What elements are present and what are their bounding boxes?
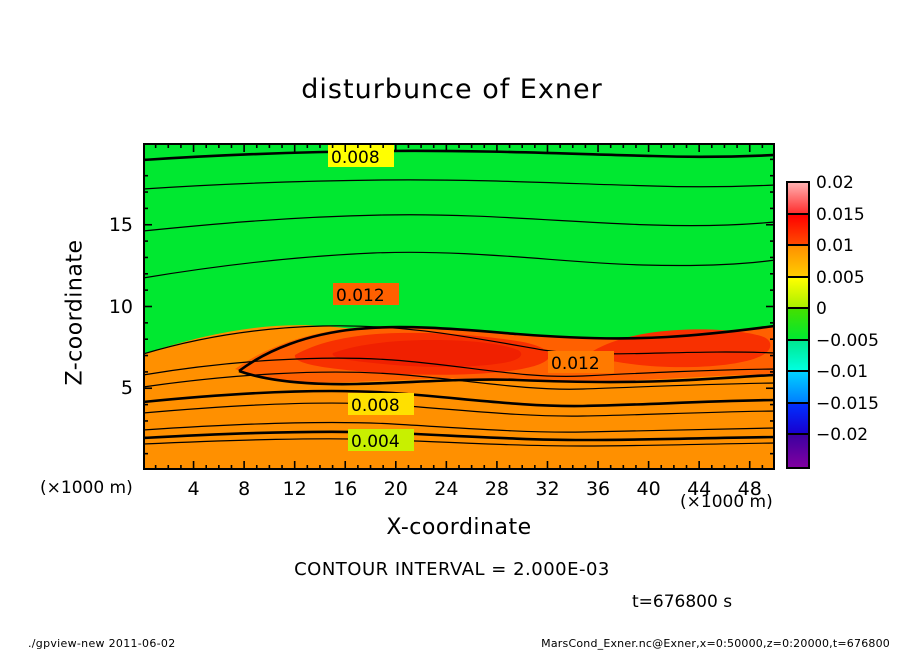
- x-tick-label: 20: [384, 478, 408, 500]
- x-axis-title: X-coordinate: [143, 515, 775, 540]
- y-tick-label: 10: [85, 296, 133, 318]
- time-stamp-label: t=676800 s: [632, 592, 732, 612]
- plot-frame: [143, 143, 775, 470]
- x-tick-label: 12: [283, 478, 307, 500]
- y-tick-label: 5: [85, 377, 133, 399]
- x-tick-label: 8: [238, 478, 250, 500]
- footer-command-label: ./gpview-new 2011-06-02: [28, 637, 176, 650]
- colorbar-tick-label: 0.005: [816, 268, 865, 288]
- colorbar-tick-label: −0.02: [816, 425, 868, 445]
- page-title: disturbunce of Exner: [0, 74, 904, 105]
- colorbar-frame: [786, 181, 810, 469]
- colorbar-tick-label: 0.01: [816, 236, 854, 256]
- contour-plot: 0.008 0.012 0.012 0.008 0.004: [143, 143, 775, 470]
- colorbar-tick-label: −0.01: [816, 362, 868, 382]
- y-tick-label: 15: [85, 214, 133, 236]
- y-axis-title: Z-coordinate: [63, 213, 88, 413]
- y-axis-unit-label: (×1000 m): [40, 478, 133, 498]
- colorbar: [786, 181, 810, 469]
- colorbar-tick-label: 0.02: [816, 173, 854, 193]
- x-tick-label: 32: [535, 478, 559, 500]
- colorbar-tick-label: −0.005: [816, 331, 879, 351]
- x-tick-label: 36: [586, 478, 610, 500]
- x-tick-label: 4: [188, 478, 200, 500]
- x-tick-label: 28: [485, 478, 509, 500]
- colorbar-tick-label: −0.015: [816, 394, 879, 414]
- x-tick-label: 24: [434, 478, 458, 500]
- x-tick-label: 40: [637, 478, 661, 500]
- contour-interval-note: CONTOUR INTERVAL = 2.000E-03: [0, 559, 904, 580]
- x-tick-label: 16: [333, 478, 357, 500]
- x-axis-unit-label: (×1000 m): [680, 492, 773, 512]
- footer-source-label: MarsCond_Exner.nc@Exner,x=0:50000,z=0:20…: [541, 637, 890, 650]
- colorbar-tick-label: 0: [816, 299, 827, 319]
- colorbar-tick-label: 0.015: [816, 205, 865, 225]
